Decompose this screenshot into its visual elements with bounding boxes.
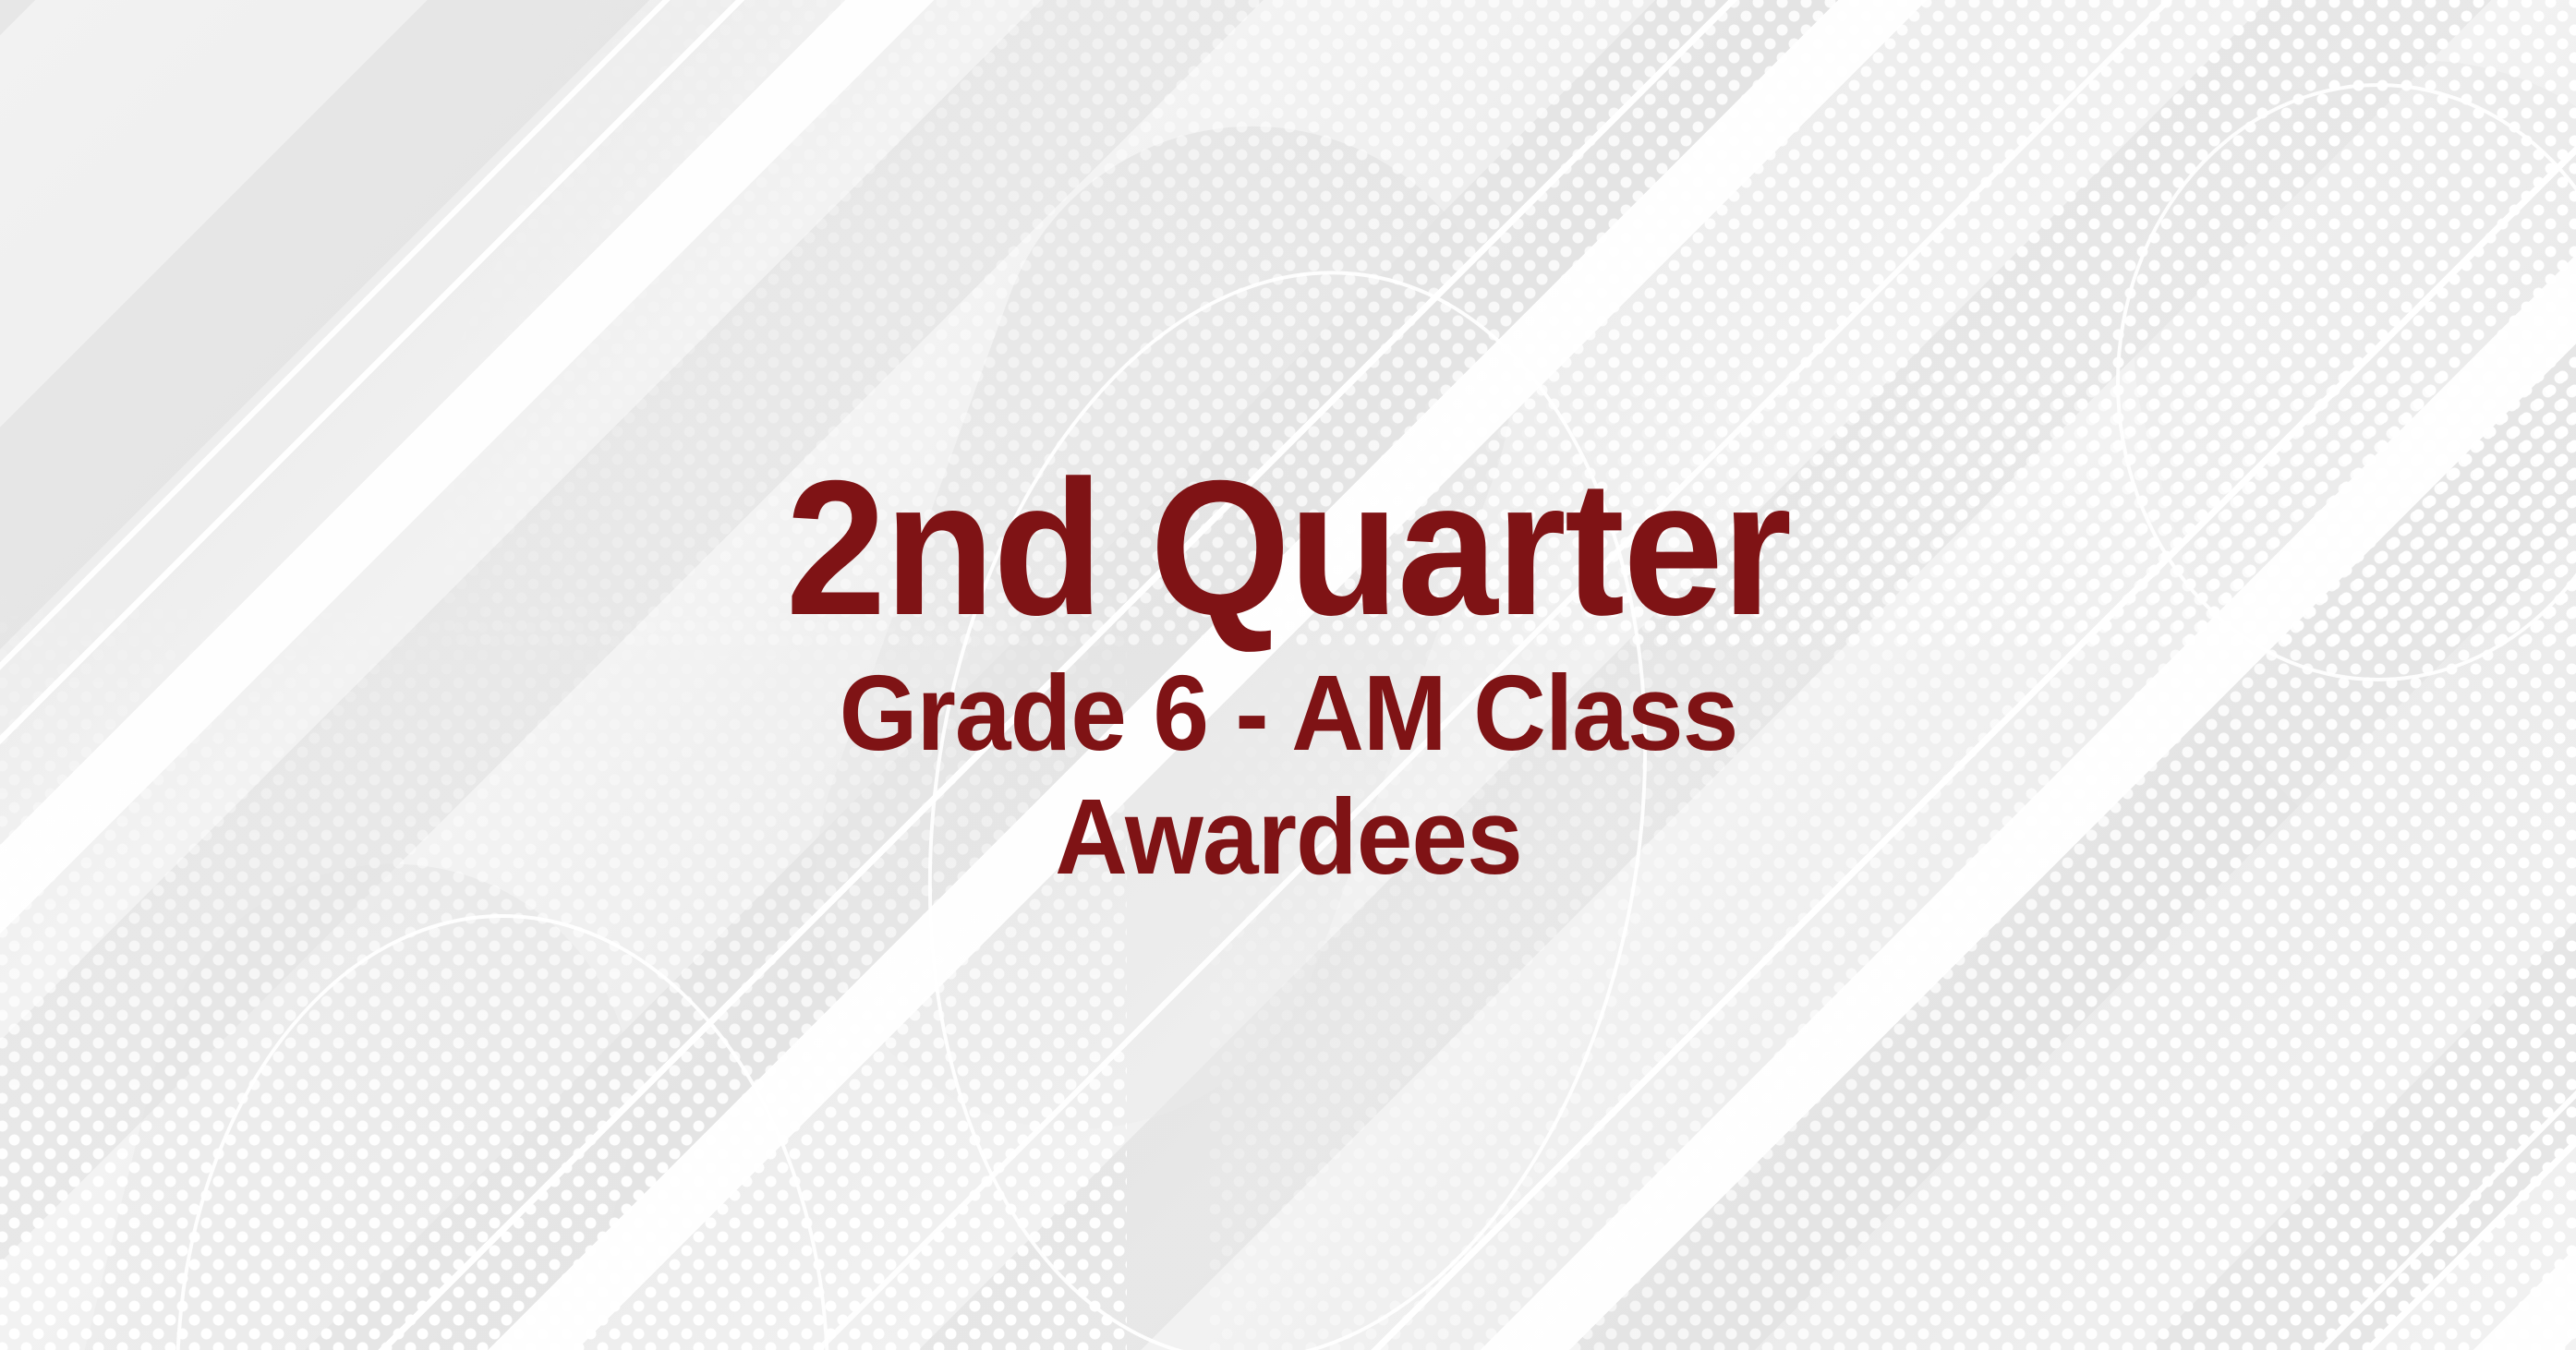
banner-subtitle: Grade 6 - AM Class Awardees [724, 651, 1853, 899]
announcement-banner: 2nd Quarter Grade 6 - AM Class Awardees [0, 0, 2576, 1350]
banner-content: 2nd Quarter Grade 6 - AM Class Awardees [0, 0, 2576, 1350]
banner-title: 2nd Quarter [786, 451, 1791, 646]
